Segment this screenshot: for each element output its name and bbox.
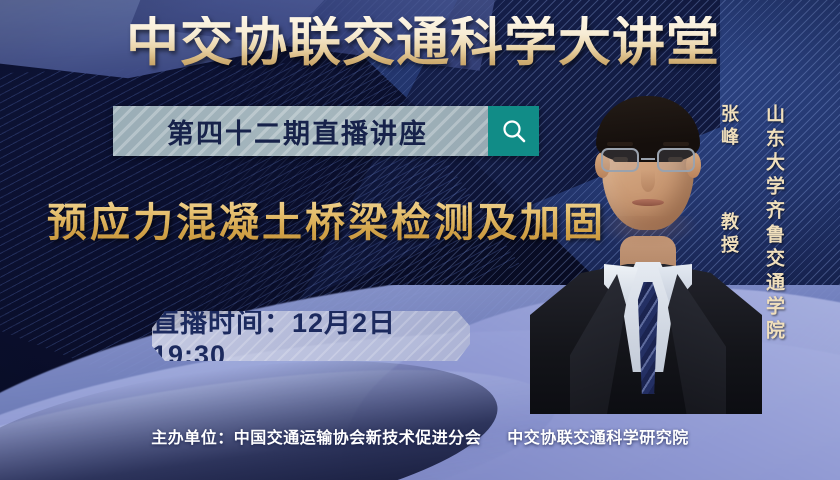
footer-organizers: 主办单位：中国交通运输协会新技术促进分会中交协联交通科学研究院 bbox=[0, 424, 840, 448]
speaker-name: 张峰 bbox=[716, 104, 742, 150]
broadcast-time-badge: 直播时间：12月2日19:30 bbox=[152, 311, 470, 361]
episode-banner: 第四十二期直播讲座 bbox=[113, 106, 539, 156]
portrait-nose bbox=[641, 170, 655, 192]
portrait-jaw-shading bbox=[588, 216, 708, 262]
footer-organizer-2: 中交协联交通科学研究院 bbox=[507, 430, 689, 447]
lecture-title: 预应力混凝土桥梁检测及加固 bbox=[47, 190, 606, 248]
live-lecture-poster: 中交协联交通科学大讲堂 第四十二期直播讲座 预应力混凝土桥梁检测及加固 直播时间… bbox=[0, 0, 840, 480]
speaker-affiliation: 山东大学齐鲁交通学院 bbox=[760, 104, 787, 344]
broadcast-time-text: 直播时间：12月2日19:30 bbox=[152, 301, 470, 371]
portrait-eyebrow-right bbox=[663, 142, 689, 146]
search-icon[interactable] bbox=[488, 106, 539, 156]
page-title: 中交协联交通科学大讲堂 bbox=[0, 16, 840, 69]
speaker-title: 教授 bbox=[716, 212, 742, 258]
portrait-mouth bbox=[632, 199, 664, 206]
footer-organizer-1: 中国交通运输协会新技术促进分会 bbox=[234, 430, 482, 447]
portrait-eyebrow-left bbox=[607, 142, 633, 146]
episode-label: 第四十二期直播讲座 bbox=[113, 106, 488, 156]
footer-label: 主办单位： bbox=[151, 430, 234, 447]
